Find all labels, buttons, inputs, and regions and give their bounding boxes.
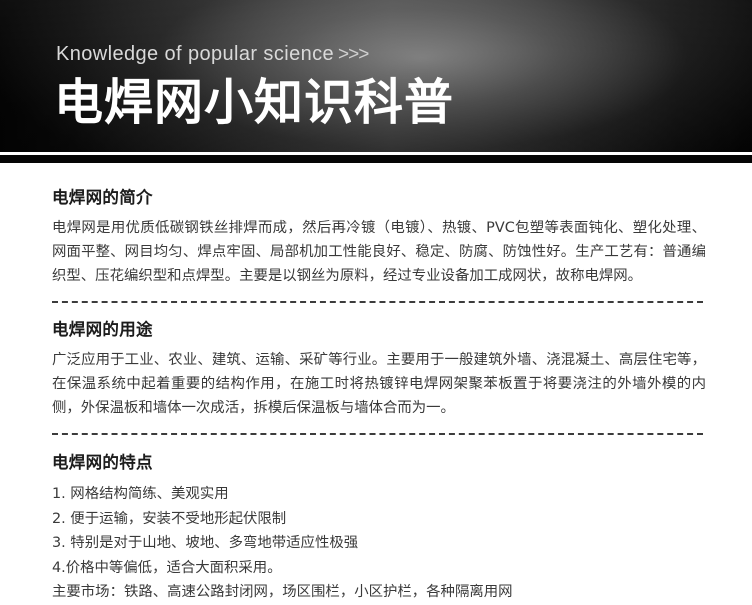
spacer	[0, 435, 752, 449]
hero-content: Knowledge of popular science>>> 电焊网小知识科普	[56, 0, 752, 152]
list-item: 2. 便于运输，安装不受地形起伏限制	[52, 507, 706, 532]
section-usage-body: 广泛应用于工业、农业、建筑、运输、采矿等行业。主要用于一般建筑外墙、浇混凝土、高…	[52, 348, 706, 420]
section-intro-heading: 电焊网的简介	[52, 184, 706, 208]
spacer	[0, 303, 752, 316]
spacer	[52, 208, 706, 216]
spacer	[0, 288, 752, 301]
section-features-heading: 电焊网的特点	[52, 449, 706, 473]
section-intro: 电焊网的简介 电焊网是用优质低碳钢铁丝排焊而成，然后再冷镀（电镀）、热镀、PVC…	[0, 184, 752, 288]
hero-bottom-rule	[0, 155, 752, 163]
spacer	[52, 340, 706, 348]
spacer	[0, 163, 752, 184]
hero-eyebrow: Knowledge of popular science>>>	[56, 43, 368, 66]
list-item: 3. 特别是对于山地、坡地、多弯地带适应性极强	[52, 531, 706, 556]
hero-banner: Knowledge of popular science>>> 电焊网小知识科普	[0, 0, 752, 152]
spacer	[52, 473, 706, 482]
section-features-list: 1. 网格结构简练、美观实用 2. 便于运输，安装不受地形起伏限制 3. 特别是…	[52, 482, 706, 605]
section-intro-body: 电焊网是用优质低碳钢铁丝排焊而成，然后再冷镀（电镀）、热镀、PVC包塑等表面钝化…	[52, 216, 706, 288]
list-item: 4.价格中等偏低，适合大面积采用。	[52, 556, 706, 581]
list-item: 1. 网格结构简练、美观实用	[52, 482, 706, 507]
section-usage-heading: 电焊网的用途	[52, 316, 706, 340]
spacer	[0, 420, 752, 433]
content-area: 电焊网的简介 电焊网是用优质低碳钢铁丝排焊而成，然后再冷镀（电镀）、热镀、PVC…	[0, 163, 752, 605]
hero-title: 电焊网小知识科普	[54, 75, 454, 131]
chevron-right-triple-icon: >>>	[338, 44, 368, 65]
section-usage: 电焊网的用途 广泛应用于工业、农业、建筑、运输、采矿等行业。主要用于一般建筑外墙…	[0, 316, 752, 420]
list-item: 主要市场：铁路、高速公路封闭网，场区围栏，小区护栏，各种隔离用网	[52, 580, 706, 605]
section-features: 电焊网的特点 1. 网格结构简练、美观实用 2. 便于运输，安装不受地形起伏限制…	[0, 449, 752, 605]
page-root: Knowledge of popular science>>> 电焊网小知识科普…	[0, 0, 752, 570]
hero-eyebrow-text: Knowledge of popular science	[56, 43, 334, 65]
